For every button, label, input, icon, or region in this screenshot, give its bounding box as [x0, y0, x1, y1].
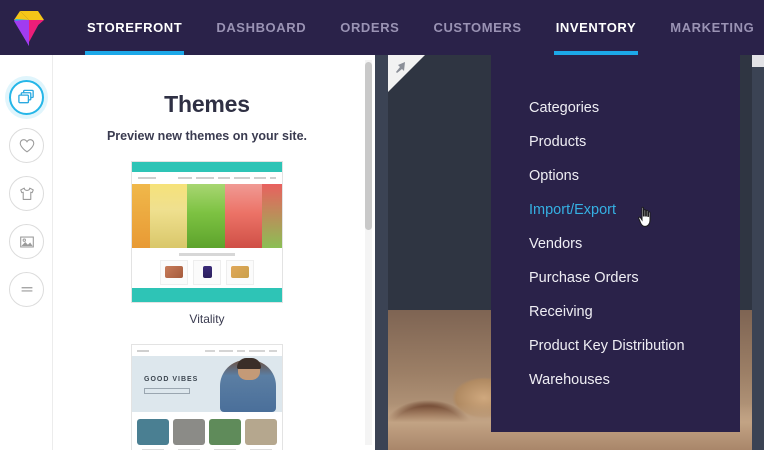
inventory-dropdown-menu: Categories Products Options Import/Expor… [491, 55, 740, 432]
mock-hero-caption: GOOD VIBES [144, 376, 198, 383]
top-navigation-bar: STOREFRONT DASHBOARD ORDERS CUSTOMERS IN… [0, 0, 764, 55]
theme-card-vitality[interactable]: Vitality [131, 161, 283, 326]
theme-preview-good-vibes[interactable]: GOOD VIBES [131, 344, 283, 450]
image-icon [18, 233, 36, 251]
nav-marketing[interactable]: MARKETING [653, 0, 764, 55]
nav-customers[interactable]: CUSTOMERS [416, 0, 538, 55]
mock-footer [132, 288, 282, 303]
mock-hero-image [132, 184, 282, 248]
menu-item-warehouses[interactable]: Warehouses [529, 372, 610, 388]
rail-item-favorites[interactable] [9, 128, 44, 163]
themes-panel-scrollbar[interactable] [365, 60, 372, 445]
menu-lines-icon [18, 281, 36, 299]
rail-item-products[interactable] [9, 176, 44, 211]
page-subtitle: Preview new themes on your site. [53, 129, 361, 143]
rail-item-layers[interactable] [9, 80, 44, 115]
menu-item-options[interactable]: Options [529, 168, 579, 184]
pin-arrow-icon [394, 61, 408, 80]
mouse-cursor-pointing-hand [636, 206, 656, 235]
nav-items: STOREFRONT DASHBOARD ORDERS CUSTOMERS IN… [70, 0, 764, 55]
page-scrollbar-thumb[interactable] [752, 55, 764, 67]
nav-inventory[interactable]: INVENTORY [539, 0, 654, 55]
menu-item-import-export[interactable]: Import/Export [529, 202, 616, 218]
menu-item-categories[interactable]: Categories [529, 100, 599, 116]
menu-item-receiving[interactable]: Receiving [529, 304, 593, 320]
rail-item-images[interactable] [9, 224, 44, 259]
page-scrollbar[interactable] [752, 55, 764, 450]
theme-card-good-vibes[interactable]: GOOD VIBES [131, 344, 283, 450]
mock-hero-image: GOOD VIBES [132, 356, 282, 412]
left-icon-rail [0, 55, 53, 450]
menu-item-vendors[interactable]: Vendors [529, 236, 582, 252]
app-root: Edit Themes Preview new themes on your s… [0, 0, 764, 450]
theme-preview-vitality[interactable] [131, 161, 283, 303]
mock-topbar [132, 162, 282, 172]
nav-orders[interactable]: ORDERS [323, 0, 416, 55]
mock-product-grid [132, 412, 282, 450]
menu-item-purchase-orders[interactable]: Purchase Orders [529, 270, 639, 286]
layers-icon [17, 88, 36, 107]
tshirt-icon [18, 185, 36, 203]
mock-nav [132, 345, 282, 356]
nav-dashboard[interactable]: DASHBOARD [199, 0, 323, 55]
theme-name-label: Vitality [131, 312, 283, 326]
themes-panel-scrollbar-thumb[interactable] [365, 62, 372, 230]
mock-nav [132, 172, 282, 184]
heart-icon [18, 137, 36, 155]
menu-item-product-key-distribution[interactable]: Product Key Distribution [529, 338, 685, 354]
menu-item-products[interactable]: Products [529, 134, 586, 150]
mock-featured-section [132, 248, 282, 288]
rail-item-menu[interactable] [9, 272, 44, 307]
brand-gem-logo[interactable] [9, 7, 49, 49]
themes-panel: Themes Preview new themes on your site. [53, 55, 361, 450]
page-title: Themes [53, 91, 361, 118]
nav-storefront[interactable]: STOREFRONT [70, 0, 199, 55]
